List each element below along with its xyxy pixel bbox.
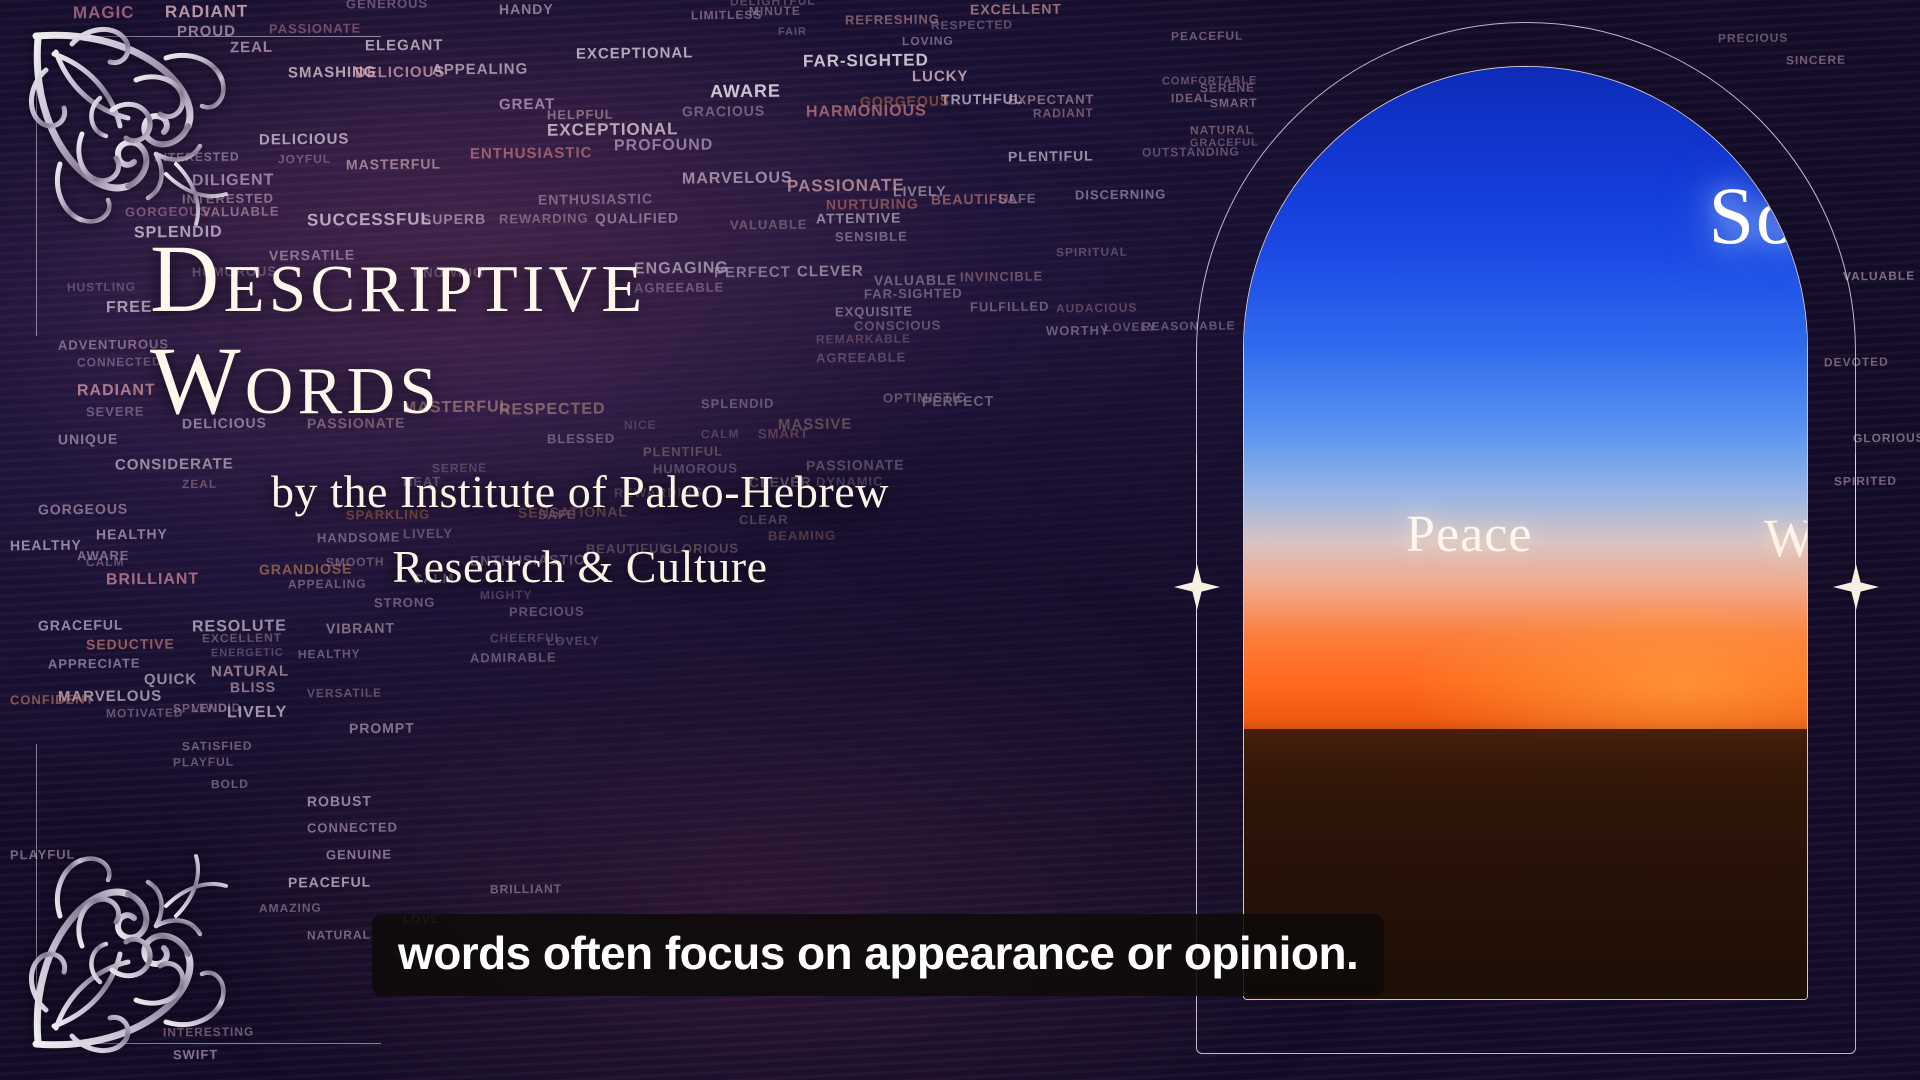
- title-line-2: Words: [150, 327, 970, 435]
- horizon-glow: [1244, 608, 1807, 738]
- overlay-word-peace: Peace: [1406, 505, 1532, 564]
- corner-flourish-icon: [16, 826, 256, 1066]
- overlay-word-right: W: [1764, 507, 1808, 569]
- overlay-word-top: Soo: [1708, 169, 1808, 263]
- page-title: Descriptive Words: [150, 225, 970, 434]
- arch-media-panel: Soo Peace W: [1243, 66, 1808, 1000]
- corner-flourish-icon: [16, 14, 256, 254]
- subtitle: by the Institute of Paleo-Hebrew Researc…: [150, 455, 1010, 604]
- subtitle-line-2: Research & Culture: [150, 530, 1010, 605]
- title-line-1: Descriptive: [150, 225, 970, 333]
- subtitle-caption-bar: words often focus on appearance or opini…: [372, 914, 1384, 996]
- presentation-slide: MAGICRADIANTPROUDGENEROUSPASSIONATEHANDY…: [0, 0, 1920, 1080]
- subtitle-line-1: by the Institute of Paleo-Hebrew: [150, 455, 1010, 530]
